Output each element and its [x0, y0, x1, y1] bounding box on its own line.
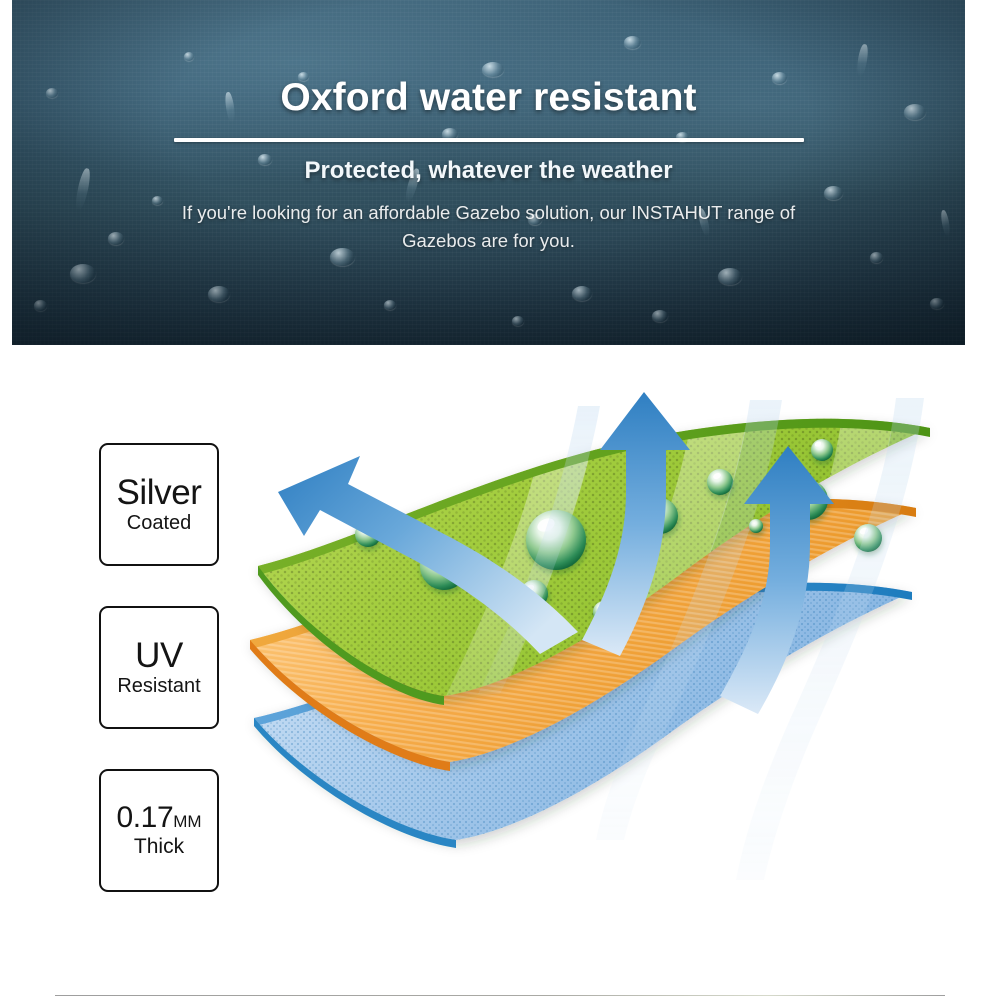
- product-infographic: Oxford water resistant Protected, whatev…: [0, 0, 1000, 1000]
- hero-divider: [174, 138, 804, 142]
- feature-badge-list: Silver Coated UV Resistant 0.17MM Thick: [99, 443, 219, 932]
- badge-unit: MM: [173, 812, 201, 831]
- hero-body-text: If you're looking for an affordable Gaze…: [179, 199, 799, 255]
- badge-sub-label: Resistant: [117, 676, 200, 697]
- badge-main-label: 0.17MM: [116, 803, 201, 834]
- badge-main-label: Silver: [116, 475, 201, 511]
- badge-sub-label: Thick: [134, 836, 184, 858]
- fabric-layers-illustration: [248, 388, 948, 918]
- badge-value: 0.17: [116, 801, 173, 834]
- badge-uv-resistant: UV Resistant: [99, 606, 219, 729]
- hero-subtitle: Protected, whatever the weather: [304, 159, 672, 183]
- badge-thickness: 0.17MM Thick: [99, 769, 219, 892]
- badge-main-label: UV: [135, 638, 183, 674]
- hero-title: Oxford water resistant: [280, 78, 696, 117]
- badge-sub-label: Coated: [127, 513, 192, 534]
- footer-divider: [55, 995, 945, 996]
- hero-banner: Oxford water resistant Protected, whatev…: [12, 0, 965, 345]
- droplet: [707, 469, 733, 495]
- droplet: [811, 439, 833, 461]
- badge-silver-coated: Silver Coated: [99, 443, 219, 566]
